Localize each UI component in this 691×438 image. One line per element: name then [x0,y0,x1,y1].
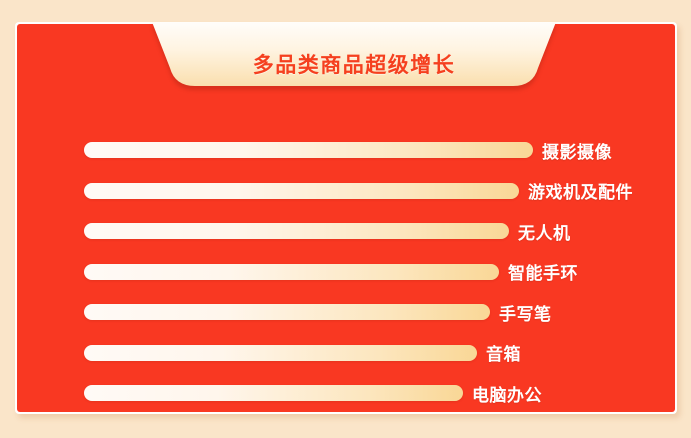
bar-fill [84,223,509,239]
bar-fill [84,304,490,320]
bar-row: 摄影摄像 [84,142,612,158]
bar-category-label: 智能手环 [508,259,578,284]
bar-category-label: 手写笔 [499,300,552,325]
bar-category-label: 电脑办公 [472,381,542,406]
bar-fill [84,183,519,199]
bar-fill [84,142,533,158]
bar-fill [84,264,499,280]
bar-category-label: 摄影摄像 [542,138,612,163]
poster-canvas: 摄影摄像游戏机及配件无人机智能手环手写笔音箱电脑办公 多品类商品超级增长 [0,0,691,438]
bar-row: 智能手环 [84,264,578,280]
bar-category-label: 无人机 [518,219,571,244]
bar-row: 电脑办公 [84,385,542,401]
title-ribbon: 多品类商品超级增长 [152,22,556,92]
bar-row: 手写笔 [84,304,552,320]
bar-row: 音箱 [84,345,521,361]
page-title: 多品类商品超级增长 [152,22,556,90]
bar-fill [84,345,477,361]
bar-category-label: 游戏机及配件 [528,178,633,203]
bar-row: 无人机 [84,223,571,239]
bar-row: 游戏机及配件 [84,183,633,199]
bar-category-label: 音箱 [486,340,521,365]
bar-fill [84,385,463,401]
